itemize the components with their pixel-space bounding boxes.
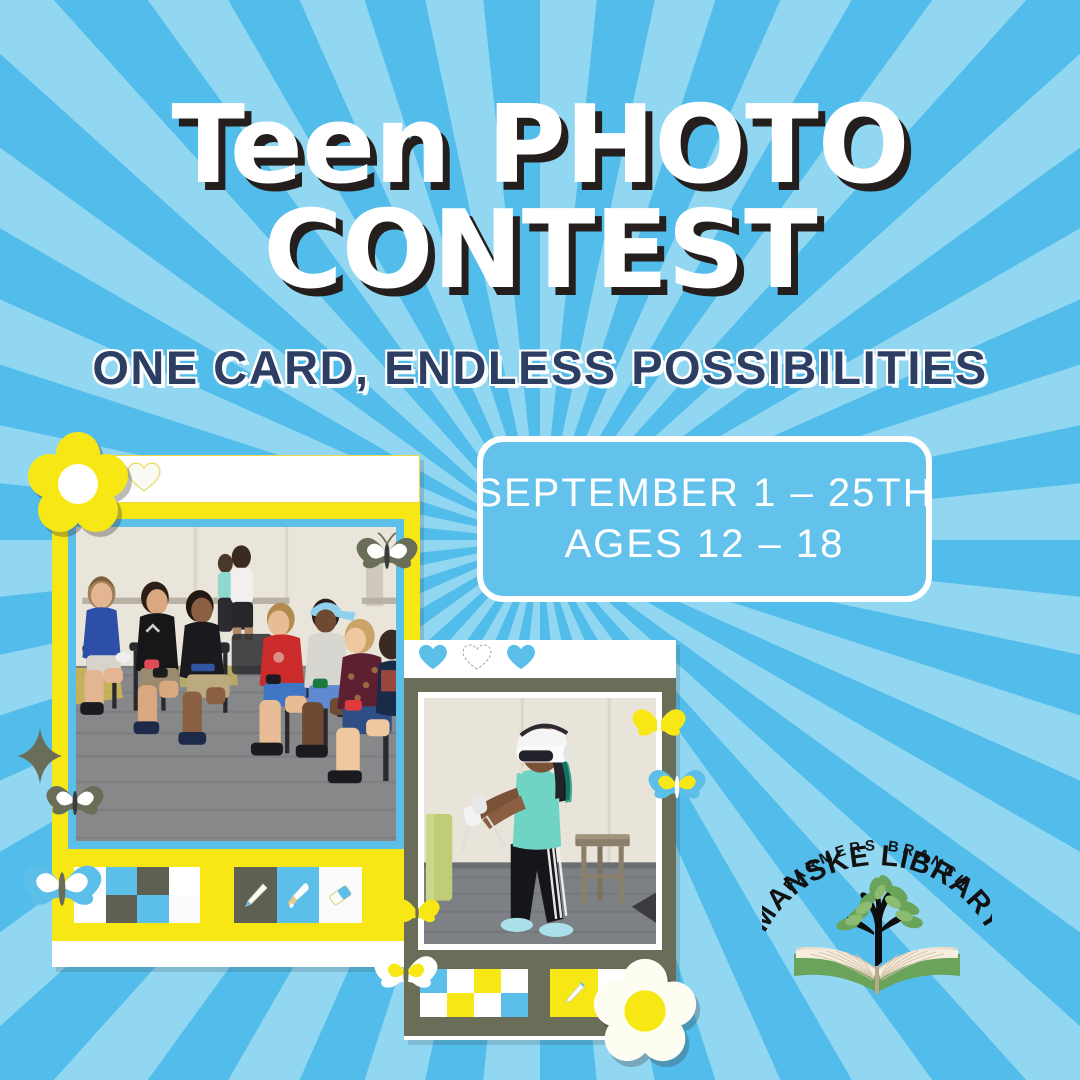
swatch [169,895,201,923]
frame-2-titlebar [404,640,676,678]
frame-1-photo [76,527,396,841]
butterfly-yellow-decoration [648,760,706,819]
pencil-tool-button[interactable] [234,867,277,923]
frame-2-photo [424,698,656,944]
swatch [106,867,138,895]
title-line-1: Teen PHOTO [0,96,1080,195]
title-line-2: CONTEST [0,201,1080,300]
subtitle: ONE CARD, ENDLESS POSSIBILITIES [0,340,1080,395]
poster-canvas: Teen PHOTO CONTEST ONE CARD, ENDLESS POS… [0,0,1080,1080]
butterfly-blue-decoration [22,852,102,931]
sparkle-star-icon [18,728,62,789]
swatch [169,867,201,895]
frame-1-photo-mat [68,519,404,849]
frame-2-photo-mat [418,692,662,950]
flower-white-decoration [586,952,704,1075]
butterfly-yellow-decoration [632,700,686,755]
butterfly-white-decoration [374,946,438,1009]
event-details-box: SEPTEMBER 1 – 25TH AGES 12 – 18 [477,436,932,602]
flower-yellow-decoration [18,424,138,549]
butterfly-yellow-decoration [394,892,440,939]
event-ages: AGES 12 – 18 [565,519,845,570]
swatch [474,993,501,1017]
swatch [474,969,501,993]
swatch [447,993,474,1017]
swatch [106,895,138,923]
event-dates: SEPTEMBER 1 – 25TH [475,468,933,519]
heart-filled-icon [418,644,448,675]
heart-outline-icon [462,644,492,675]
library-logo: FARMERS BRANCH MANSKE LIBRARY [762,818,992,998]
eraser-tool-button[interactable] [319,867,362,923]
swatch [137,895,169,923]
frame-1-toolbar [52,849,420,941]
frame-1-tools [234,867,362,923]
swatch [501,993,528,1017]
heart-filled-icon [506,644,536,675]
swatch [447,969,474,993]
swatch [137,867,169,895]
swatch [501,969,528,993]
paintbrush-tool-button[interactable] [277,867,320,923]
page-title: Teen PHOTO CONTEST [0,96,1080,301]
butterfly-olive-decoration [356,528,418,589]
